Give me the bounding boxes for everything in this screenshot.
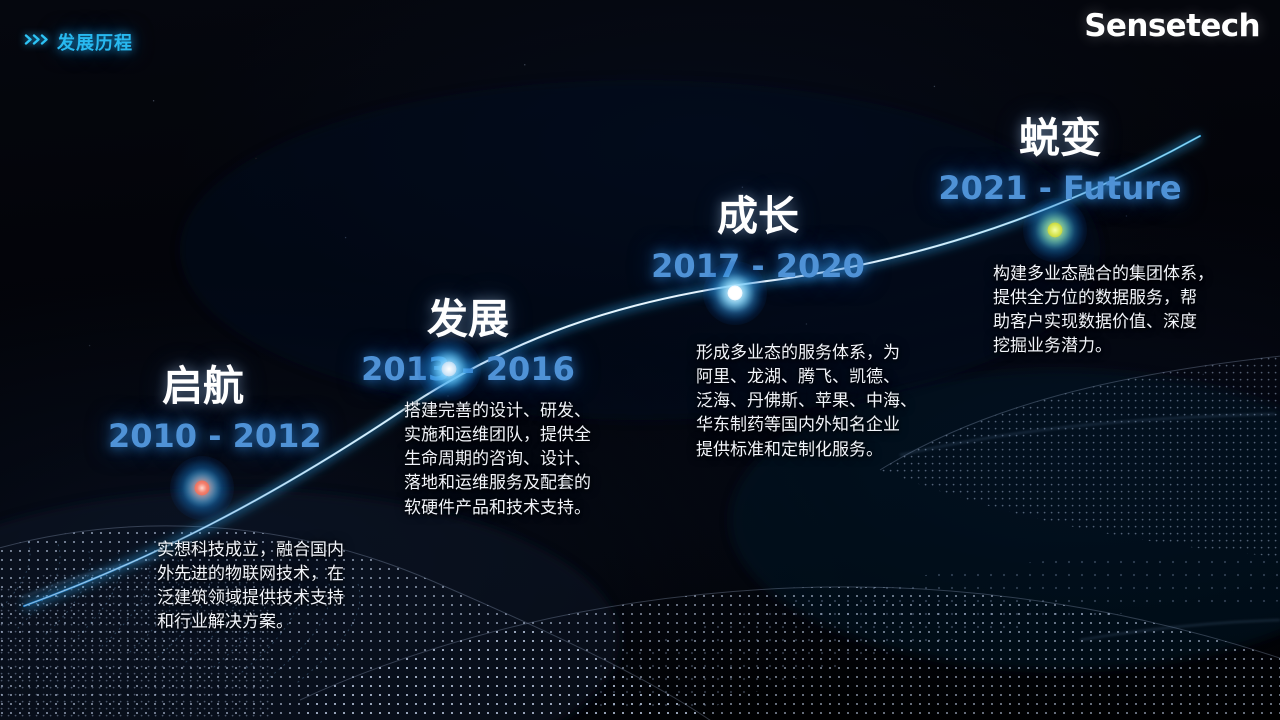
milestone-1-title: 启航 [108,352,298,412]
milestone-3-node[interactable] [703,261,767,325]
node-core-icon [195,481,210,496]
page-title: 发展历程 [57,29,133,55]
slide-header: 发展历程 Sensetech [0,0,1280,62]
milestone-4[interactable]: 蜕变 2021 - Future [935,104,1185,207]
milestone-1-years: 2010 - 2012 [108,417,298,455]
milestone-2-title: 发展 [348,285,588,345]
milestone-1-description: 实想科技成立，融合国内 外先进的物联网技术，在 泛建筑领域提供技术支持 和行业解… [157,538,429,635]
chevron-triple-right-icon [24,33,52,46]
milestone-1[interactable]: 启航 2010 - 2012 [108,352,298,455]
milestone-3-description: 形成多业态的服务体系，为 阿里、龙湖、腾飞、凯德、 泛海、丹佛斯、苹果、中海、 … [696,341,978,462]
milestone-2-description: 搭建完善的设计、研发、 实施和运维团队，提供全 生命周期的咨询、设计、 落地和运… [404,399,656,520]
slide-canvas: 发展历程 Sensetech 启航 2010 - 2012 实想科技成立，融合国… [0,0,1280,720]
milestone-3-title: 成长 [633,182,883,242]
milestone-2-node[interactable] [417,337,481,401]
node-core-icon [1048,223,1063,238]
brand-logo: Sensetech [1084,8,1260,44]
milestone-1-node[interactable] [170,456,234,520]
milestone-4-title: 蜕变 [935,104,1185,164]
milestone-4-node[interactable] [1023,198,1087,262]
milestone-4-description: 构建多业态融合的集团体系， 提供全方位的数据服务，帮 助客户实现数据价值、深度 … [993,262,1255,359]
node-core-icon [728,286,743,301]
node-core-icon [442,362,457,377]
